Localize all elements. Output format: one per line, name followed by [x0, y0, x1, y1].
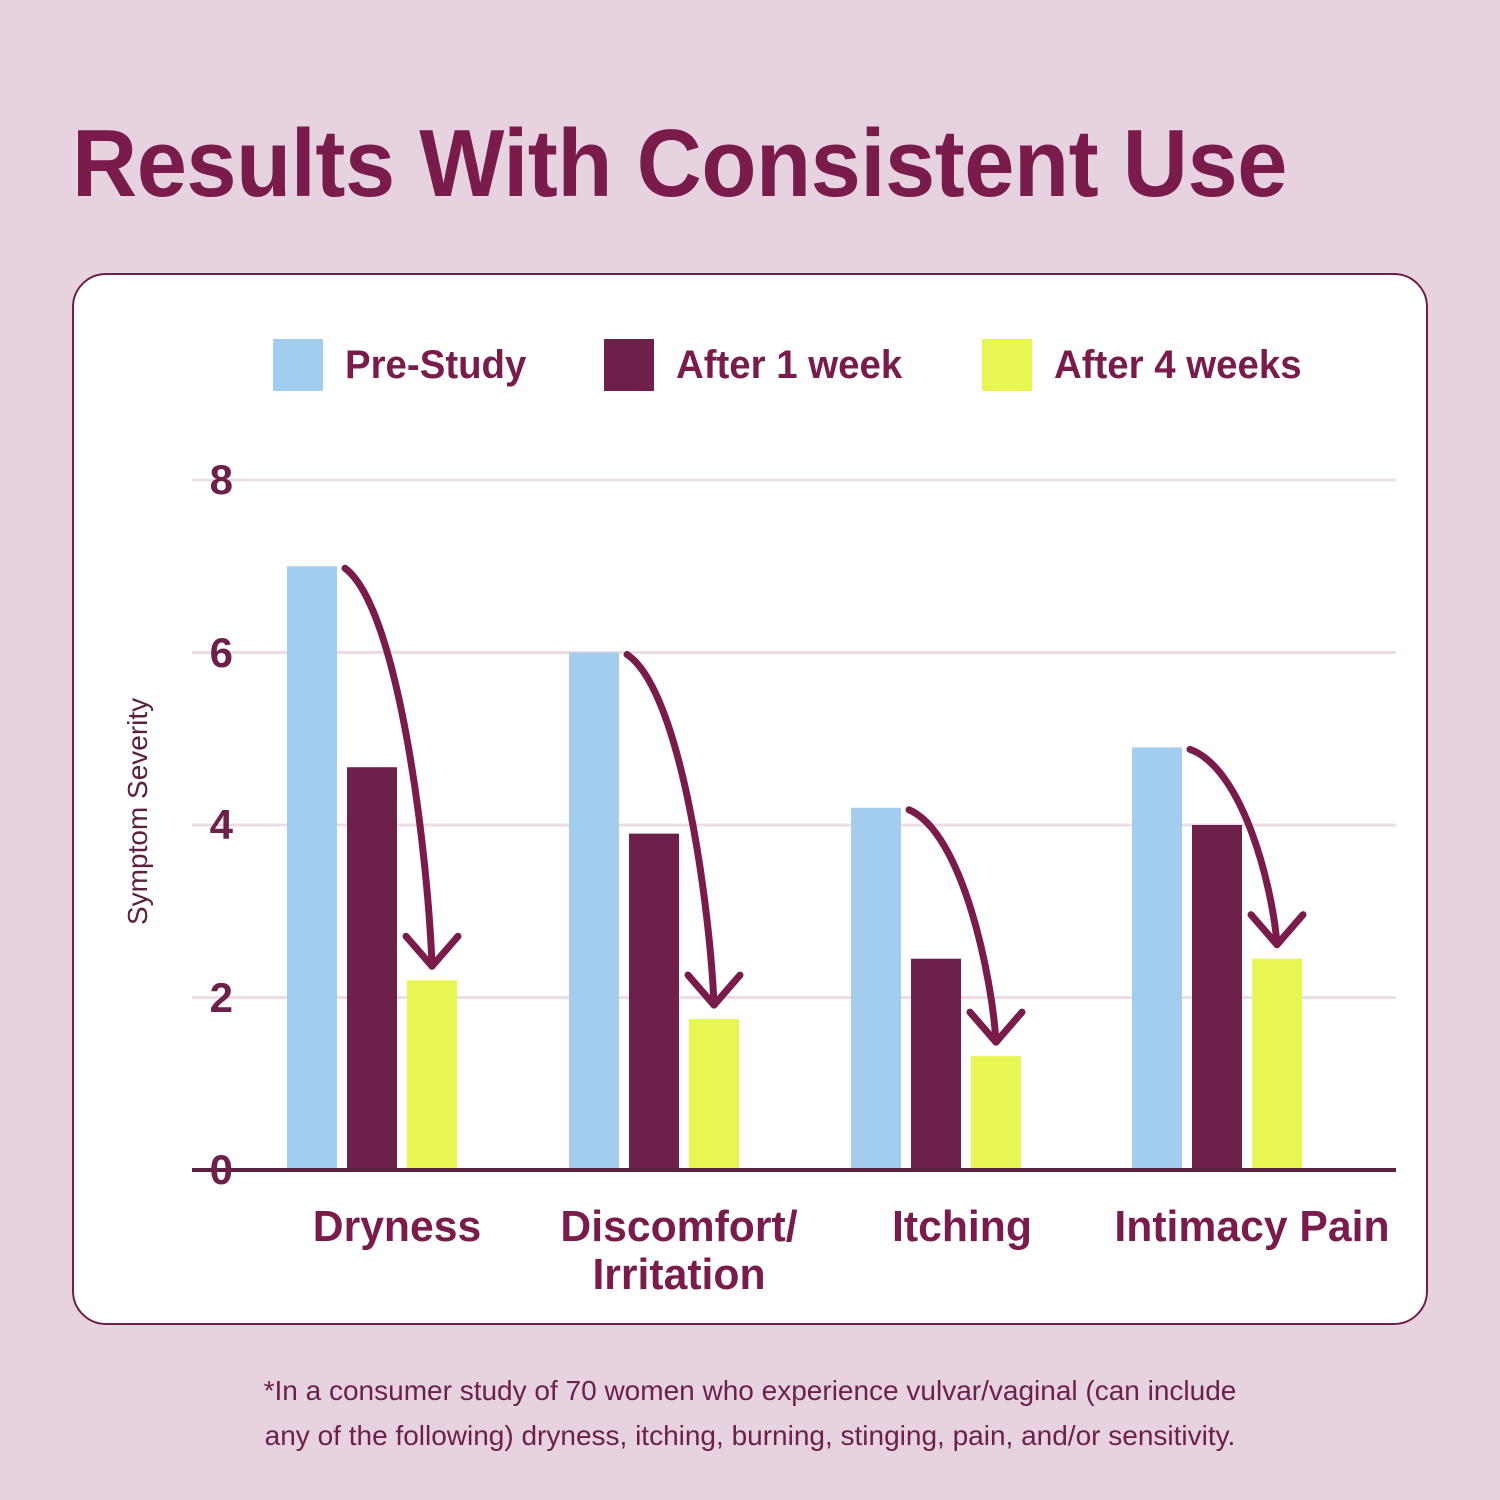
bar-pre-study-intimacy-pain [1132, 747, 1182, 1170]
chart-card: Pre-Study After 1 week After 4 weeks Sym… [72, 273, 1428, 1325]
x-category-line2: Irritation [534, 1251, 825, 1299]
bar-after-4-weeks-intimacy-pain [1252, 959, 1302, 1170]
y-axis-title: Symptom Severity [122, 698, 154, 925]
x-category-label-discomfort-irritation: Discomfort/ Irritation [534, 1203, 825, 1298]
page-root: Results With Consistent Use Pre-Study Af… [0, 0, 1500, 1500]
footnote-line-2: any of the following) dryness, itching, … [72, 1413, 1428, 1458]
y-tick-label-8: 8 [169, 459, 233, 501]
bar-chart-svg [74, 275, 1430, 1327]
bar-pre-study-itching [851, 808, 901, 1170]
bar-after-4-weeks-itching [971, 1056, 1021, 1170]
page-title: Results With Consistent Use [72, 108, 1350, 220]
bar-after-1-week-itching [911, 959, 961, 1170]
bar-after-4-weeks-discomfort- [689, 1019, 739, 1170]
bar-pre-study-dryness [287, 566, 337, 1170]
x-category-line1: Itching [892, 1202, 1032, 1251]
y-tick-label-4: 4 [169, 804, 233, 846]
y-tick-label-0: 0 [169, 1149, 233, 1191]
x-category-label-intimacy-pain: Intimacy Pain [1097, 1203, 1407, 1251]
y-tick-label-2: 2 [169, 977, 233, 1019]
x-category-line1: Dryness [313, 1202, 481, 1251]
x-category-line1: Intimacy Pain [1114, 1202, 1389, 1251]
bar-after-1-week-discomfort- [629, 834, 679, 1170]
x-category-label-itching: Itching [817, 1203, 1108, 1251]
plot-area: Symptom Severity 8 6 4 2 0 Dryness Disco… [74, 275, 1430, 1327]
bar-pre-study-discomfort- [569, 653, 619, 1171]
footnote: *In a consumer study of 70 women who exp… [72, 1368, 1428, 1459]
bar-after-1-week-intimacy-pain [1192, 825, 1242, 1170]
x-category-label-dryness: Dryness [252, 1203, 543, 1251]
footnote-line-1: *In a consumer study of 70 women who exp… [72, 1368, 1428, 1413]
x-category-line1: Discomfort/ [534, 1203, 825, 1251]
bar-after-1-week-dryness [347, 767, 397, 1170]
y-tick-label-6: 6 [169, 632, 233, 674]
bar-after-4-weeks-dryness [407, 980, 457, 1170]
